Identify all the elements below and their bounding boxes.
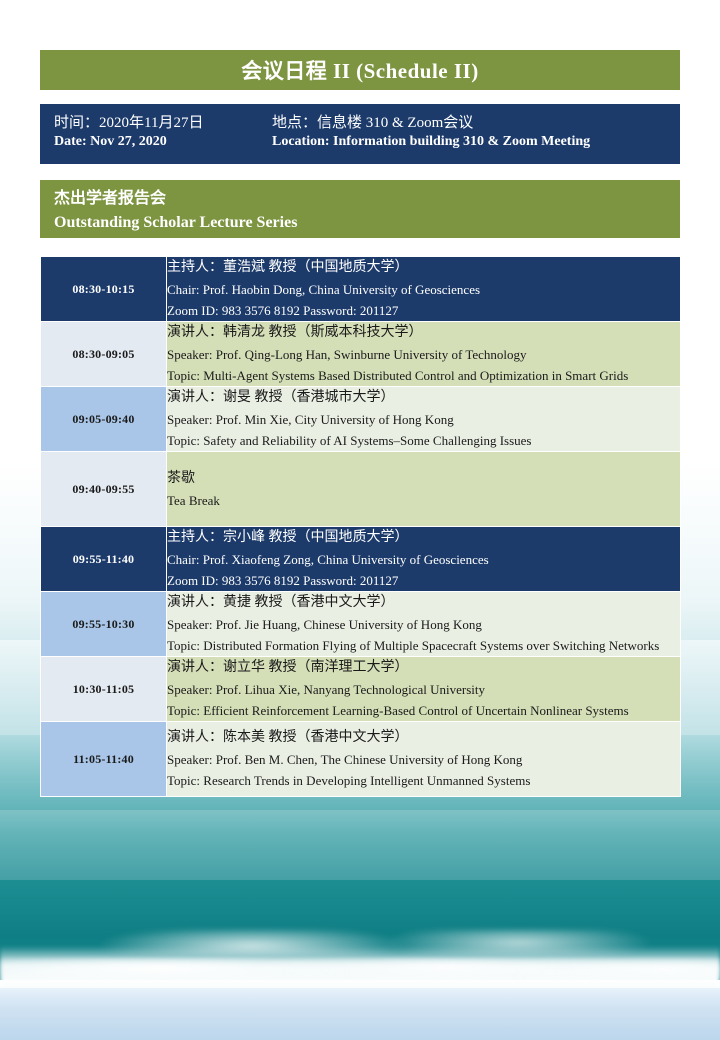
row-line-en: Chair: Prof. Xiaofeng Zong, China Univer…	[167, 549, 680, 570]
row-content-cell: 演讲人：陈本美 教授（香港中文大学） Speaker: Prof. Ben M.…	[167, 722, 681, 797]
row-line-en: Tea Break	[167, 490, 680, 511]
table-row: 09:05-09:40 演讲人：谢旻 教授（香港城市大学） Speaker: P…	[41, 387, 681, 452]
row-content-cell: 主持人：宗小峰 教授（中国地质大学） Chair: Prof. Xiaofeng…	[167, 527, 681, 592]
event-date-cn: 时间：2020年11月27日	[54, 111, 272, 132]
row-line-cn: 演讲人：陈本美 教授（香港中文大学）	[167, 727, 680, 748]
table-row: 08:30-09:05 演讲人：韩清龙 教授（斯威本科技大学） Speaker:…	[41, 322, 681, 387]
page-title-bar: 会议日程 II (Schedule II)	[40, 50, 680, 90]
row-time-cell: 08:30-09:05	[41, 322, 167, 387]
table-row: 11:05-11:40 演讲人：陈本美 教授（香港中文大学） Speaker: …	[41, 722, 681, 797]
row-time-cell: 09:40-09:55	[41, 452, 167, 527]
row-time-cell: 09:55-11:40	[41, 527, 167, 592]
event-date-en: Date: Nov 27, 2020	[54, 134, 272, 150]
row-line-cn: 演讲人：韩清龙 教授（斯威本科技大学）	[167, 322, 680, 343]
table-row: 09:55-10:30 演讲人：黄捷 教授（香港中文大学） Speaker: P…	[41, 592, 681, 657]
row-content-cell: 演讲人：谢旻 教授（香港城市大学） Speaker: Prof. Min Xie…	[167, 387, 681, 452]
table-row: 08:30-10:15 主持人：董浩斌 教授（中国地质大学） Chair: Pr…	[41, 257, 681, 322]
row-line-speaker: Speaker: Prof. Lihua Xie, Nanyang Techno…	[167, 679, 680, 700]
row-line-cn: 演讲人：黄捷 教授（香港中文大学）	[167, 592, 680, 613]
row-time-cell: 09:05-09:40	[41, 387, 167, 452]
row-line-topic: Topic: Efficient Reinforcement Learning-…	[167, 700, 680, 721]
row-line-speaker: Speaker: Prof. Jie Huang, Chinese Univer…	[167, 614, 680, 635]
schedule-table: 08:30-10:15 主持人：董浩斌 教授（中国地质大学） Chair: Pr…	[40, 256, 681, 797]
event-meta-bar: 时间：2020年11月27日 地点：信息楼 310 & Zoom会议 Date:…	[40, 104, 680, 164]
row-line-zoom: Zoom ID: 983 3576 8192 Password: 201127	[167, 300, 680, 321]
row-time-cell: 10:30-11:05	[41, 657, 167, 722]
section-title-en: Outstanding Scholar Lecture Series	[54, 211, 680, 234]
event-location-en: Location: Information building 310 & Zoo…	[272, 134, 590, 150]
schedule-page: 会议日程 II (Schedule II) 时间：2020年11月27日 地点：…	[0, 0, 720, 1040]
row-content-cell: 茶歇 Tea Break	[167, 452, 681, 527]
table-row: 09:40-09:55 茶歇 Tea Break	[41, 452, 681, 527]
row-time-cell: 09:55-10:30	[41, 592, 167, 657]
row-time-cell: 11:05-11:40	[41, 722, 167, 797]
row-content-cell: 主持人：董浩斌 教授（中国地质大学） Chair: Prof. Haobin D…	[167, 257, 681, 322]
row-line-speaker: Speaker: Prof. Min Xie, City University …	[167, 409, 680, 430]
row-content-cell: 演讲人：韩清龙 教授（斯威本科技大学） Speaker: Prof. Qing-…	[167, 322, 681, 387]
row-line-topic: Topic: Distributed Formation Flying of M…	[167, 635, 680, 656]
row-time-cell: 08:30-10:15	[41, 257, 167, 322]
row-line-cn: 主持人：董浩斌 教授（中国地质大学）	[167, 257, 680, 278]
row-line-topic: Topic: Research Trends in Developing Int…	[167, 770, 680, 791]
section-title-cn: 杰出学者报告会	[54, 187, 680, 211]
row-content-cell: 演讲人：黄捷 教授（香港中文大学） Speaker: Prof. Jie Hua…	[167, 592, 681, 657]
event-location-cn: 地点：信息楼 310 & Zoom会议	[272, 111, 473, 132]
event-meta-row-cn: 时间：2020年11月27日 地点：信息楼 310 & Zoom会议	[54, 111, 666, 134]
row-line-topic: Topic: Safety and Reliability of AI Syst…	[167, 430, 680, 451]
row-content-cell: 演讲人：谢立华 教授（南洋理工大学） Speaker: Prof. Lihua …	[167, 657, 681, 722]
row-line-zoom: Zoom ID: 983 3576 8192 Password: 201127	[167, 570, 680, 591]
row-line-cn: 茶歇	[167, 468, 680, 489]
row-line-speaker: Speaker: Prof. Ben M. Chen, The Chinese …	[167, 749, 680, 770]
row-line-en: Chair: Prof. Haobin Dong, China Universi…	[167, 279, 680, 300]
row-line-topic: Topic: Multi-Agent Systems Based Distrib…	[167, 365, 680, 386]
row-line-cn: 主持人：宗小峰 教授（中国地质大学）	[167, 527, 680, 548]
page-title: 会议日程 II (Schedule II)	[241, 55, 478, 85]
row-line-cn: 演讲人：谢立华 教授（南洋理工大学）	[167, 657, 680, 678]
row-line-cn: 演讲人：谢旻 教授（香港城市大学）	[167, 387, 680, 408]
table-row: 10:30-11:05 演讲人：谢立华 教授（南洋理工大学） Speaker: …	[41, 657, 681, 722]
event-meta-row-en: Date: Nov 27, 2020 Location: Information…	[54, 134, 666, 157]
table-row: 09:55-11:40 主持人：宗小峰 教授（中国地质大学） Chair: Pr…	[41, 527, 681, 592]
section-header-bar: 杰出学者报告会 Outstanding Scholar Lecture Seri…	[40, 180, 680, 238]
row-line-speaker: Speaker: Prof. Qing-Long Han, Swinburne …	[167, 344, 680, 365]
schedule-table-body: 08:30-10:15 主持人：董浩斌 教授（中国地质大学） Chair: Pr…	[41, 257, 681, 797]
